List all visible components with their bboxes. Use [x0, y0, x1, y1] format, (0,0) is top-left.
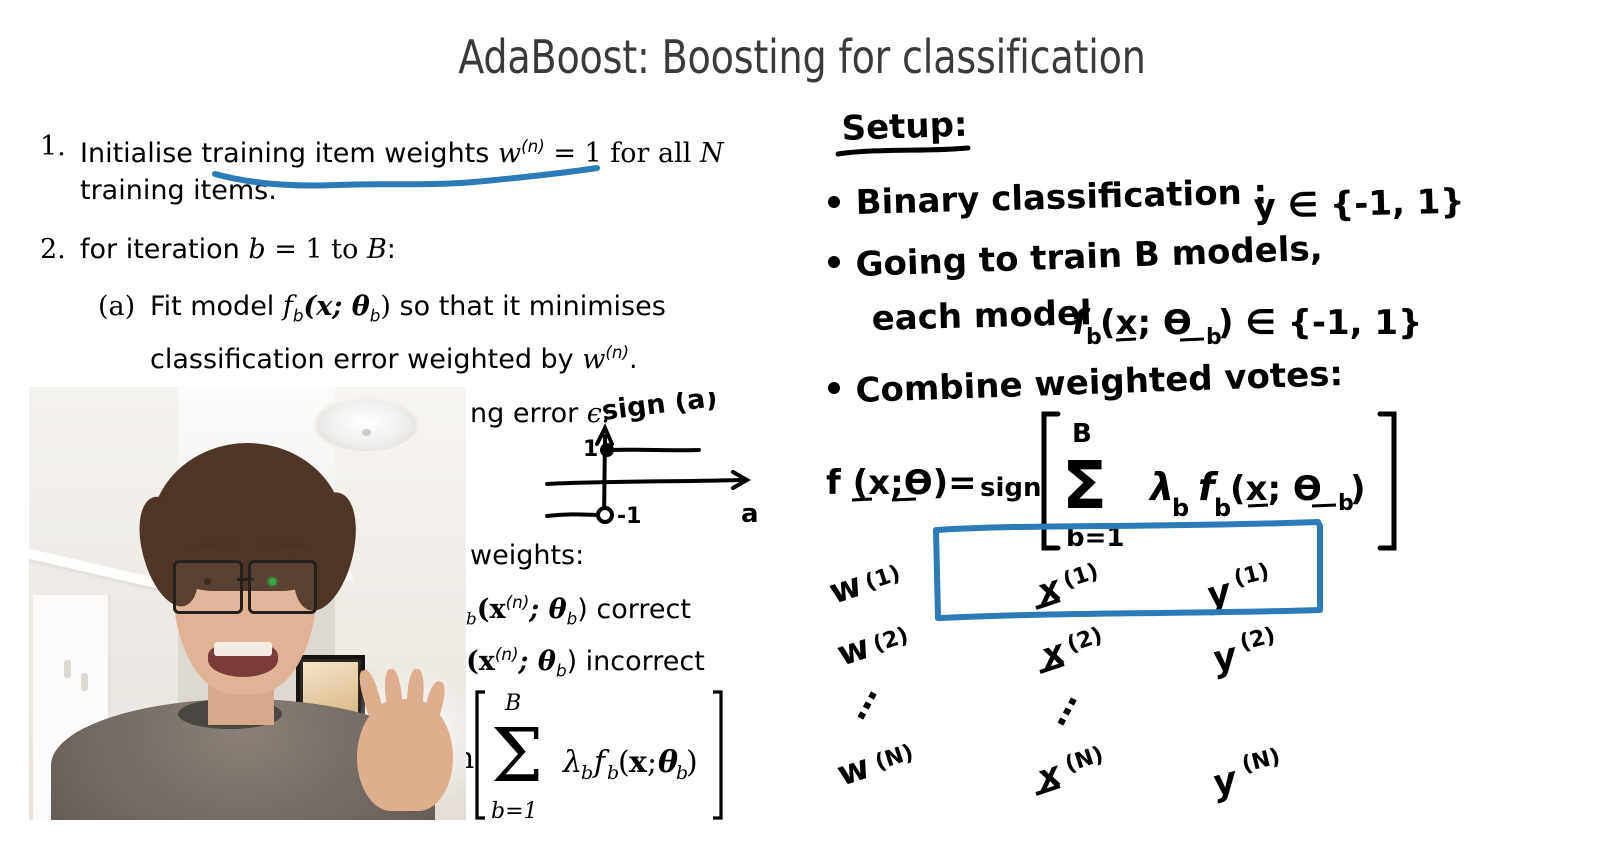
- handwriting-heading: Setup:: [838, 105, 968, 154]
- svg-text:Σ: Σ: [1062, 447, 1107, 524]
- substep-c-x: (x: [477, 594, 506, 625]
- svg-text:λ: λ: [1148, 465, 1174, 509]
- step-2-text-pre: for iteration: [80, 234, 240, 265]
- list-item-step-2: 2. for iteration b = 1 to B:: [40, 231, 820, 268]
- svg-text:(N): (N): [1062, 742, 1106, 778]
- substep-c-correct: ) correct: [577, 594, 691, 625]
- svg-text:y: y: [1208, 759, 1242, 805]
- substep-a-text-1: Fit model: [150, 291, 274, 322]
- video-presenter-eye: [204, 578, 211, 585]
- svg-text:(1): (1): [1060, 559, 1101, 594]
- substep-c-visible-fragment-3: (x(n); θb) incorrect: [466, 644, 705, 680]
- sign-graph-title: sign (a): [600, 392, 719, 427]
- handwriting-combine-formula: f (x;ϴ)= sign B Σ b=1 λ b f b (x; ϴ b ): [826, 414, 1394, 553]
- substep-a-args: (x; θ: [304, 291, 370, 322]
- svg-text:) ∈ {-1, 1}: ) ∈ {-1, 1}: [1218, 303, 1422, 343]
- svg-text:θ: θ: [658, 745, 678, 780]
- svg-text:Going to train B models,: Going to train B models,: [855, 229, 1323, 285]
- svg-text:sign: sign: [980, 473, 1042, 503]
- handwriting-bullet-2: Going to train B models, each model f b …: [828, 229, 1422, 350]
- svg-text:-1: -1: [617, 504, 641, 529]
- svg-text:…: …: [835, 677, 886, 726]
- substep-a-symbol-f: f: [283, 291, 293, 322]
- svg-text:w: w: [832, 627, 874, 675]
- svg-text:(2): (2): [1064, 623, 1105, 658]
- substep-a-superscript-n: (n): [605, 342, 629, 362]
- handwriting-bullet-1: Binary classification : y ∈ {-1, 1}: [828, 172, 1465, 227]
- svg-text:w: w: [832, 747, 874, 795]
- step-2-symbol-b: b: [248, 234, 265, 265]
- table-column-weights: w (1) w (2) … w (N): [824, 561, 916, 795]
- svg-text:): ): [1350, 469, 1366, 509]
- substep-a-symbol-w: w: [582, 344, 605, 375]
- svg-text:b: b: [1214, 494, 1231, 522]
- svg-text:1: 1: [583, 437, 598, 462]
- substep-c-x-sup: (n): [506, 592, 530, 612]
- step-2-symbol-B: B: [367, 234, 387, 265]
- slide-canvas: AdaBoost: Boosting for classification 1.…: [0, 0, 1604, 866]
- table-column-inputs: x (1) x (2) … x (N): [1031, 559, 1107, 799]
- svg-text:Combine weighted votes:: Combine weighted votes:: [855, 354, 1344, 411]
- svg-text:a: a: [741, 499, 759, 529]
- svg-text:x: x: [629, 745, 648, 780]
- svg-text:…: …: [1035, 683, 1086, 732]
- svg-text:(1): (1): [862, 561, 903, 596]
- substep-c-theta: ; θ: [529, 594, 566, 625]
- step-1-text-b: = 1 for all: [553, 138, 691, 169]
- substep-a-close: ): [380, 291, 391, 322]
- table-column-targets: y (1) y (2) y (N): [1202, 559, 1283, 805]
- svg-text:B: B: [1072, 419, 1092, 449]
- svg-text:): ): [686, 745, 698, 780]
- svg-text:Setup:: Setup:: [841, 105, 968, 149]
- substep-a-period: .: [629, 344, 638, 375]
- substep-c2-incorrect: ) incorrect: [567, 646, 705, 677]
- svg-text:(2): (2): [1237, 623, 1277, 656]
- svg-text:(x; ϴ: (x; ϴ: [1230, 469, 1322, 509]
- svg-text:λ: λ: [562, 745, 582, 780]
- svg-text:y: y: [1208, 635, 1242, 681]
- svg-text:Σ: Σ: [491, 713, 543, 799]
- svg-text:(N): (N): [1239, 744, 1282, 778]
- svg-text:Binary classification :: Binary classification :: [855, 172, 1267, 223]
- step-2-colon: :: [387, 234, 396, 265]
- step-1-symbol-N: N: [700, 138, 724, 169]
- video-presenter-mouth: [208, 642, 278, 677]
- svg-text:(: (: [618, 745, 630, 780]
- video-coat-hook: [64, 660, 71, 678]
- list-item-step-1: 1. Initialise training item weights w(n)…: [40, 128, 820, 209]
- svg-text:b: b: [581, 762, 593, 784]
- svg-text:b=1: b=1: [491, 799, 538, 824]
- step-1-text-a: Initialise training item weights: [80, 138, 489, 169]
- substep-c2-x: (x: [466, 646, 495, 677]
- final-formula: n B Σ b=1 λ b f b ( x ; θ b ): [455, 676, 755, 826]
- step-1-superscript-n: (n): [521, 136, 545, 156]
- substep-c2-theta: ; θ: [519, 646, 556, 677]
- svg-text:(1): (1): [1231, 559, 1271, 592]
- page-title: AdaBoost: Boosting for classification: [64, 30, 1540, 84]
- svg-text:w: w: [824, 565, 866, 613]
- substep-c-f-sub: b: [466, 608, 477, 628]
- svg-text:b: b: [1172, 494, 1189, 522]
- svg-text:(2): (2): [870, 623, 911, 658]
- substep-a-text-2: so that it minimises: [400, 291, 666, 322]
- video-ceiling-lamp: [313, 396, 420, 454]
- video-coat-hook: [81, 673, 88, 691]
- slide-body-left: 1. Initialise training item weights w(n)…: [40, 128, 820, 378]
- video-presenter-hand: [357, 699, 453, 812]
- step-1-line-2: training items.: [80, 175, 277, 206]
- svg-text:(N): (N): [872, 740, 916, 776]
- substep-c-theta-sub: b: [567, 608, 578, 628]
- step-1-number: 1.: [40, 128, 80, 165]
- svg-text:(x; ϴ: (x; ϴ: [1100, 303, 1192, 343]
- sign-function-graph: sign (a) 1 -1 a: [545, 392, 805, 546]
- svg-text:;: ;: [647, 745, 657, 780]
- video-presenter-eye-reflection: [269, 578, 276, 585]
- video-presenter-glasses: [173, 560, 317, 608]
- substep-a-subscript-b: b: [293, 305, 304, 325]
- svg-text:f (x;ϴ)=: f (x;ϴ)=: [826, 463, 977, 503]
- handwriting-data-table: w (1) w (2) … w (N) x (1) x (2) …: [824, 522, 1320, 805]
- substep-a-label: (a): [98, 288, 150, 325]
- substep-c2-x-sup: (n): [495, 644, 519, 664]
- list-item-substep-a: (a) Fit model fb(x; θb) so that it minim…: [98, 288, 820, 378]
- substep-a-args-sub: b: [370, 305, 381, 325]
- substep-a-text-3: classification error weighted by: [150, 344, 574, 375]
- step-2-number: 2.: [40, 231, 80, 268]
- step-1-symbol-w: w: [498, 138, 521, 169]
- handwritten-notes-panel: Setup: Binary classification : y ∈ {-1, …: [820, 96, 1590, 840]
- handwriting-bullet-3: Combine weighted votes:: [828, 354, 1344, 411]
- step-2-text-eq: = 1 to: [274, 234, 358, 265]
- svg-text:each model: each model: [871, 293, 1092, 339]
- presenter-video-overlay[interactable]: [29, 387, 466, 820]
- svg-text:y ∈ {-1, 1}: y ∈ {-1, 1}: [1253, 181, 1465, 227]
- substep-c-visible-fragment-2: b(x(n); θb) correct: [466, 592, 691, 628]
